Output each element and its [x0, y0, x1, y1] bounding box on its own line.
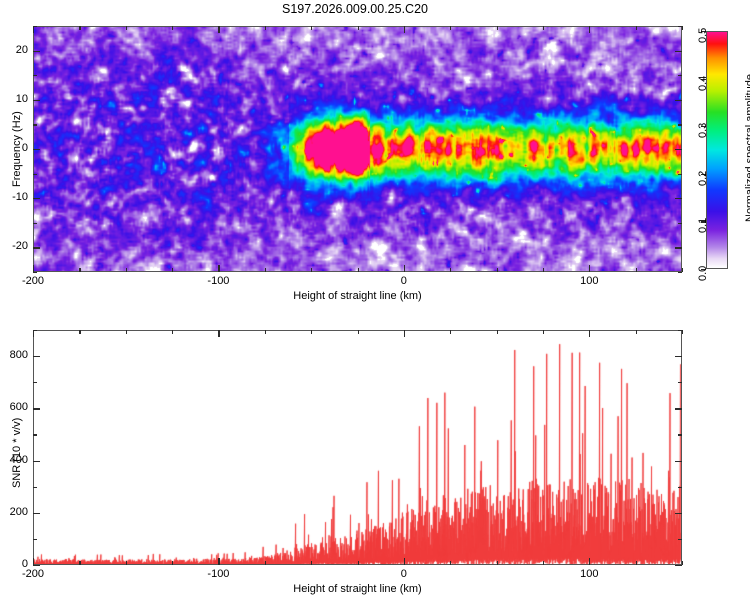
x-tick [126, 26, 127, 30]
y-tick [675, 149, 682, 150]
x-tick [79, 330, 80, 334]
y-tick [675, 356, 682, 357]
spectrogram-x-axis-label: Height of straight line (km) [33, 290, 682, 302]
x-tick [358, 561, 359, 565]
x-tick [79, 268, 80, 272]
x-tick [265, 268, 266, 272]
x-tick-label: 100 [559, 568, 619, 580]
x-tick-label: -100 [188, 275, 248, 287]
x-tick [311, 330, 312, 334]
x-tick [172, 330, 173, 334]
x-tick [636, 26, 637, 30]
colorbar-tick-label: 0.3 [697, 123, 709, 138]
y-tick [33, 75, 37, 76]
x-tick [497, 268, 498, 272]
x-tick [589, 558, 590, 565]
spectrogram-y-axis-label: Frequency (Hz) [11, 111, 23, 187]
x-tick [589, 265, 590, 272]
x-tick [265, 561, 266, 565]
colorbar-tick-label: 0.1 [697, 218, 709, 233]
y-tick [33, 26, 37, 27]
y-tick [678, 487, 682, 488]
x-tick [636, 330, 637, 334]
x-tick [450, 330, 451, 334]
x-tick [79, 561, 80, 565]
x-tick [126, 561, 127, 565]
snr-x-axis-label: Height of straight line (km) [33, 583, 682, 595]
y-tick [33, 434, 37, 435]
y-tick [678, 272, 682, 273]
x-tick [79, 26, 80, 30]
x-tick [218, 558, 219, 565]
x-tick [218, 265, 219, 272]
x-tick [682, 268, 683, 272]
colorbar-tick-label: 0.0 [697, 266, 709, 281]
x-tick [126, 330, 127, 334]
x-tick [218, 26, 219, 33]
figure-root: S197.2026.009.00.25.C20 -200-10001002010… [0, 0, 750, 600]
x-tick-label: 100 [559, 275, 619, 287]
y-tick [678, 330, 682, 331]
y-tick [33, 539, 37, 540]
x-tick [172, 268, 173, 272]
x-tick [404, 265, 405, 272]
x-tick [497, 330, 498, 334]
snr-canvas [33, 330, 682, 565]
y-tick [675, 51, 682, 52]
y-tick [678, 434, 682, 435]
y-tick [678, 174, 682, 175]
y-tick-label: 10 [0, 93, 28, 105]
snr-plot-area [33, 330, 682, 565]
y-tick-label: 200 [0, 506, 28, 518]
y-tick [33, 198, 40, 199]
y-tick [33, 461, 40, 462]
colorbar-tick-label: 0.2 [697, 171, 709, 186]
x-tick [358, 26, 359, 30]
y-tick [675, 100, 682, 101]
y-tick [33, 408, 40, 409]
y-tick-label: 800 [0, 349, 28, 361]
x-tick [404, 330, 405, 337]
y-tick [675, 565, 682, 566]
y-tick [33, 174, 37, 175]
x-tick [682, 330, 683, 334]
snr-y-axis-label: SNR (10 * v/v) [11, 417, 23, 487]
x-tick [172, 26, 173, 30]
x-tick [589, 330, 590, 337]
y-tick [33, 272, 37, 273]
x-tick [497, 26, 498, 30]
x-tick [450, 26, 451, 30]
x-tick [358, 330, 359, 334]
x-tick [33, 558, 34, 565]
x-tick [126, 268, 127, 272]
x-tick [311, 268, 312, 272]
y-tick-label: -20 [0, 240, 28, 252]
x-tick [497, 561, 498, 565]
y-tick-label: -10 [0, 191, 28, 203]
x-tick [636, 561, 637, 565]
x-tick [589, 26, 590, 33]
y-tick [33, 513, 40, 514]
x-tick [682, 26, 683, 30]
x-tick [311, 26, 312, 30]
y-tick [675, 408, 682, 409]
x-tick [450, 561, 451, 565]
x-tick [265, 26, 266, 30]
y-tick [33, 356, 40, 357]
y-tick [678, 26, 682, 27]
colorbar-tick-label: 0.4 [697, 75, 709, 90]
y-tick [33, 247, 40, 248]
x-tick-label: 0 [374, 275, 434, 287]
figure-title: S197.2026.009.00.25.C20 [0, 2, 710, 16]
x-tick [218, 330, 219, 337]
x-tick [636, 268, 637, 272]
y-tick [33, 565, 40, 566]
y-tick [678, 539, 682, 540]
y-tick-label: 600 [0, 401, 28, 413]
y-tick [678, 223, 682, 224]
x-tick [543, 330, 544, 334]
x-tick-label: -100 [188, 568, 248, 580]
x-tick [33, 265, 34, 272]
y-tick [33, 124, 37, 125]
colorbar-gradient [706, 31, 728, 269]
x-tick [358, 268, 359, 272]
x-tick [172, 561, 173, 565]
y-tick [675, 247, 682, 248]
y-tick [675, 198, 682, 199]
y-tick [33, 100, 40, 101]
x-tick [404, 558, 405, 565]
x-tick [543, 561, 544, 565]
x-tick [311, 561, 312, 565]
spectrogram-image [33, 26, 682, 272]
x-tick [450, 268, 451, 272]
spectrogram-canvas [33, 26, 682, 272]
y-tick [33, 330, 37, 331]
x-tick [404, 26, 405, 33]
x-tick [543, 26, 544, 30]
x-tick-label: 0 [374, 568, 434, 580]
y-tick [675, 513, 682, 514]
x-tick [682, 561, 683, 565]
y-tick [33, 223, 37, 224]
x-tick [265, 330, 266, 334]
y-tick [678, 75, 682, 76]
y-tick-label: 0 [0, 558, 28, 570]
y-tick-label: 20 [0, 44, 28, 56]
y-tick [678, 382, 682, 383]
colorbar-tick-label: 0.5 [697, 28, 709, 43]
y-tick [33, 487, 37, 488]
y-tick [678, 124, 682, 125]
x-tick-label: -200 [3, 275, 63, 287]
y-tick [33, 51, 40, 52]
y-tick [33, 149, 40, 150]
y-tick [675, 461, 682, 462]
y-tick [33, 382, 37, 383]
x-tick [543, 268, 544, 272]
colorbar-label: Normalized spectral amplitude [744, 74, 750, 222]
